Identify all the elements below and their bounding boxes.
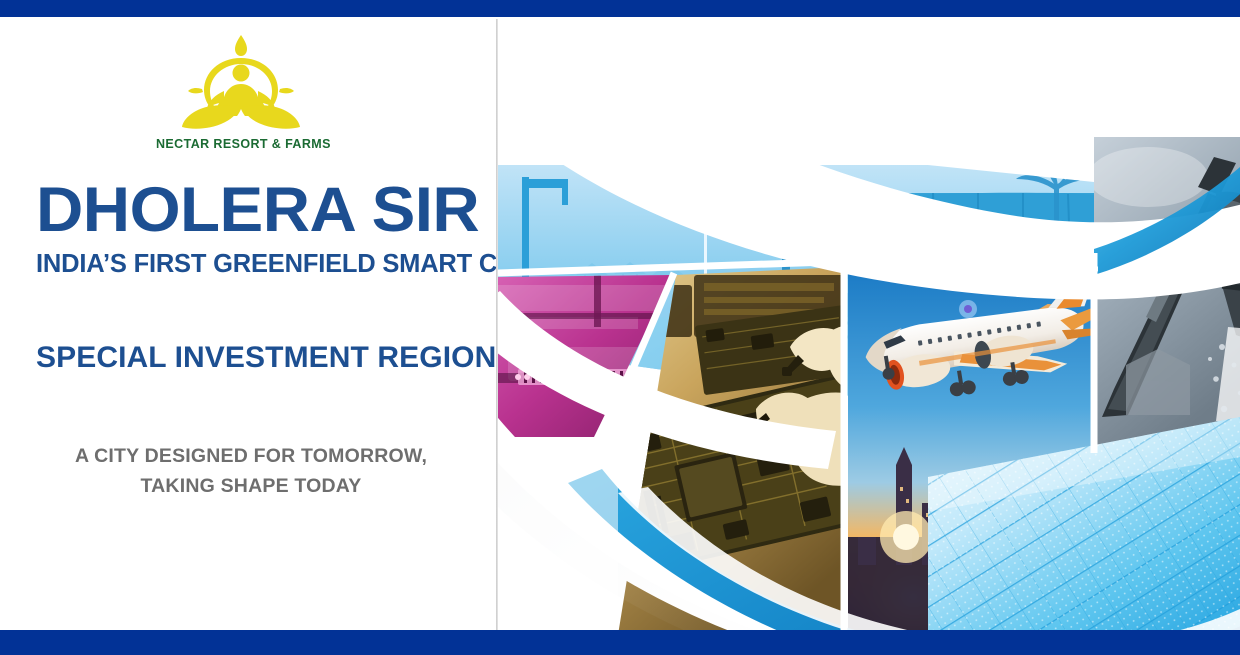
bottom-navy-bar: [0, 630, 1240, 655]
tagline: A CITY DESIGNED FOR TOMORROW, TAKING SHA…: [36, 441, 466, 501]
top-navy-bar: [0, 0, 1240, 17]
image-collage: [498, 17, 1240, 630]
page-subtitle: INDIA’S FIRST GREENFIELD SMART CITY: [36, 250, 486, 279]
region-heading: SPECIAL INVESTMENT REGION: [36, 341, 496, 375]
tagline-line-1: A CITY DESIGNED FOR TOMORROW,: [75, 445, 427, 467]
lotus-meditation-figure-icon: [171, 31, 311, 139]
page-title: DHOLERA SIR: [36, 181, 494, 241]
brand-logo: NECTAR RESORT & FARMS: [156, 31, 326, 163]
left-text-panel: NECTAR RESORT & FARMS DHOLERA SIR INDIA’…: [0, 17, 497, 630]
poster-root: NECTAR RESORT & FARMS DHOLERA SIR INDIA’…: [0, 0, 1240, 655]
tagline-line-2: TAKING SHAPE TODAY: [36, 471, 466, 501]
brand-logo-text: NECTAR RESORT & FARMS: [156, 137, 326, 151]
